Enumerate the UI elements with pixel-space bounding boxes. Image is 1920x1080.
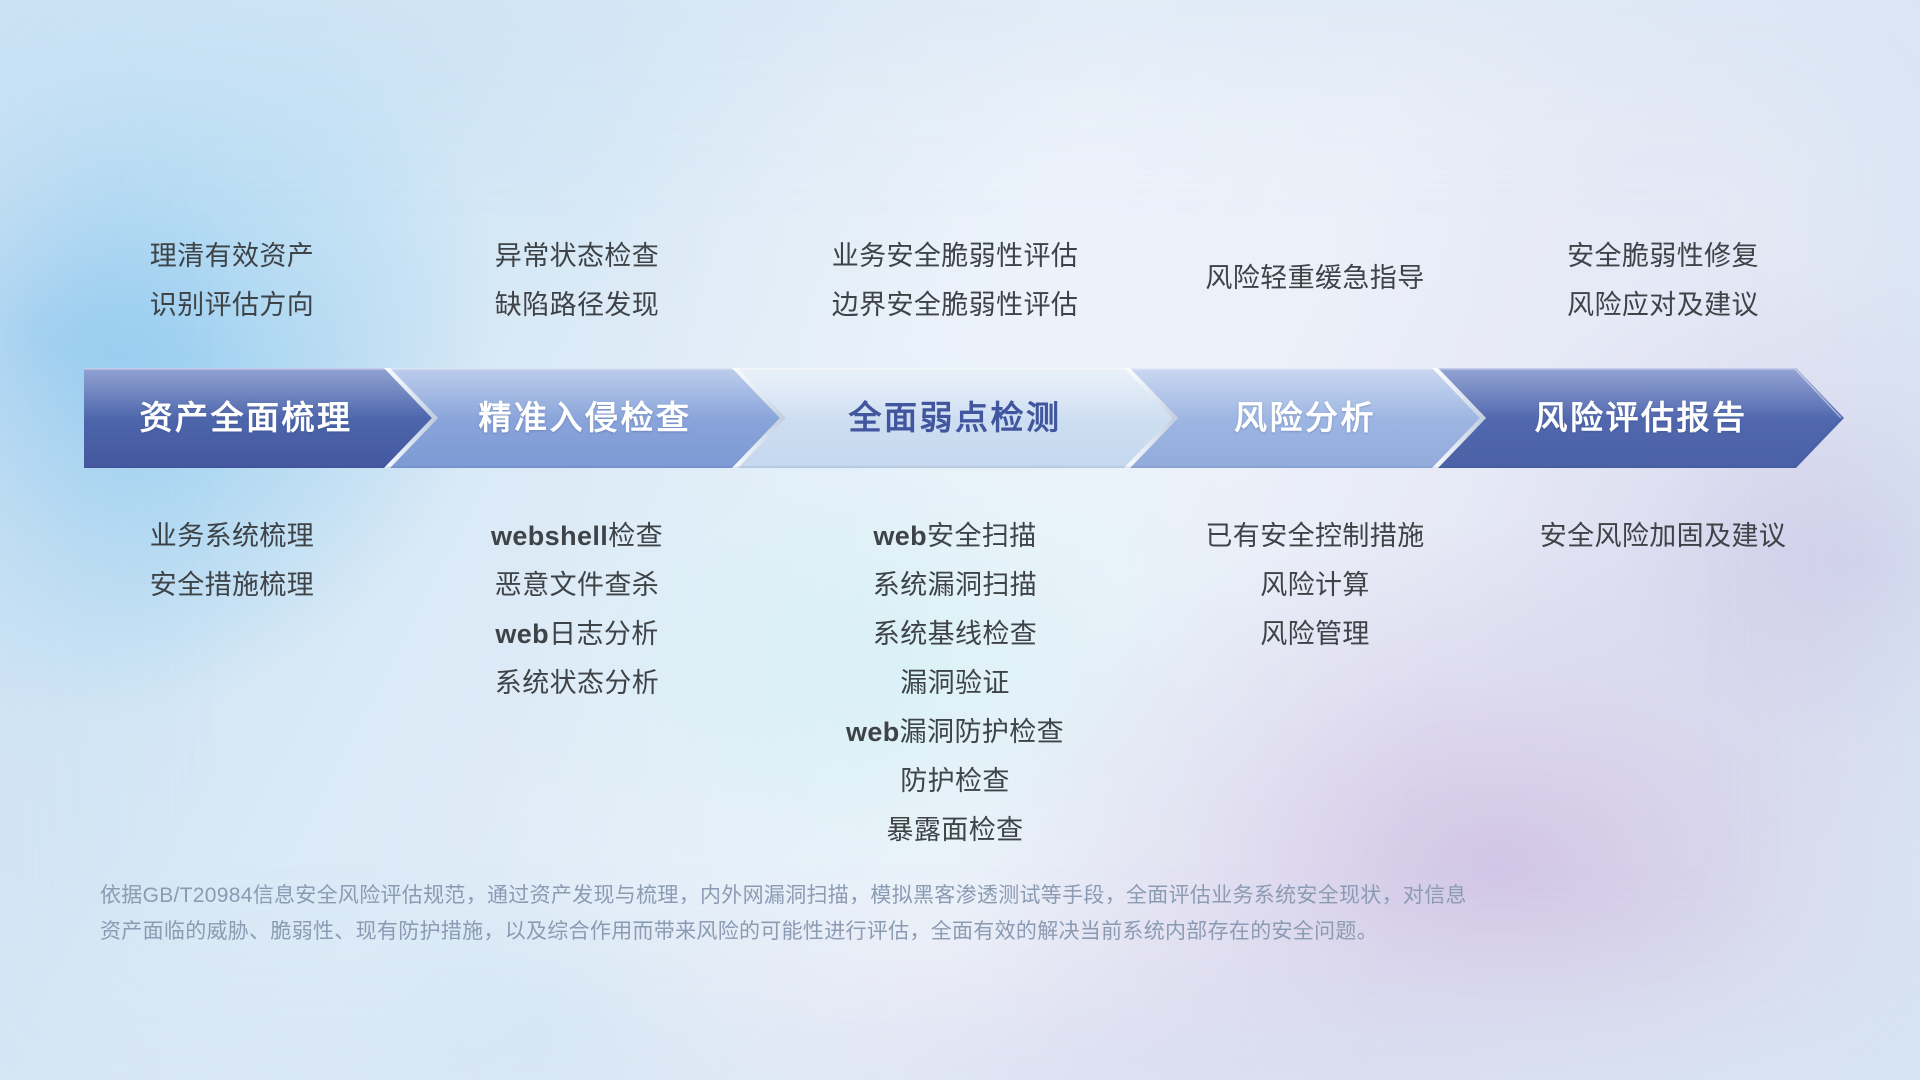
top-item: 安全脆弱性修复 bbox=[1448, 232, 1878, 281]
bottom-item: 安全风险加固及建议 bbox=[1448, 512, 1878, 561]
bottom-item: 风险管理 bbox=[1100, 610, 1530, 659]
bottom-item: 恶意文件查杀 bbox=[362, 561, 792, 610]
bottom-items-intrusion-check: webshell检查恶意文件查杀web日志分析系统状态分析 bbox=[362, 512, 792, 708]
bottom-item: 风险计算 bbox=[1100, 561, 1530, 610]
bottom-item-keyword: web bbox=[846, 717, 900, 747]
bottom-item: 防护检查 bbox=[740, 757, 1170, 806]
bottom-item: web日志分析 bbox=[362, 610, 792, 659]
footer-note: 依据GB/T20984信息安全风险评估规范，通过资产发现与梳理，内外网漏洞扫描，… bbox=[100, 878, 1660, 950]
bottom-item: 系统状态分析 bbox=[362, 659, 792, 708]
slide-canvas: 理清有效资产识别评估方向异常状态检查缺陷路径发现业务安全脆弱性评估边界安全脆弱性… bbox=[0, 0, 1920, 1080]
top-item: 缺陷路径发现 bbox=[362, 281, 792, 330]
bottom-item: web漏洞防护检查 bbox=[740, 708, 1170, 757]
bottom-item: 暴露面检查 bbox=[740, 806, 1170, 855]
bottom-item: 漏洞验证 bbox=[740, 659, 1170, 708]
footer-line-1: 依据GB/T20984信息安全风险评估规范，通过资产发现与梳理，内外网漏洞扫描，… bbox=[100, 878, 1660, 914]
bottom-item-keyword: webshell bbox=[491, 521, 608, 551]
bottom-item: webshell检查 bbox=[362, 512, 792, 561]
top-items-risk-report: 安全脆弱性修复风险应对及建议 bbox=[1448, 232, 1878, 330]
top-item: 风险应对及建议 bbox=[1448, 281, 1878, 330]
bottom-items-risk-report: 安全风险加固及建议 bbox=[1448, 512, 1878, 561]
process-arrow-ribbon: 资产全面梳理精准入侵检查全面弱点检测风险分析风险评估报告 bbox=[84, 368, 1844, 468]
top-item: 异常状态检查 bbox=[362, 232, 792, 281]
bottom-item-keyword: web bbox=[873, 521, 927, 551]
top-items-intrusion-check: 异常状态检查缺陷路径发现 bbox=[362, 232, 792, 330]
bottom-item-keyword: web bbox=[495, 619, 549, 649]
footer-line-2: 资产面临的威胁、脆弱性、现有防护措施，以及综合作用而带来风险的可能性进行评估，全… bbox=[100, 914, 1660, 950]
